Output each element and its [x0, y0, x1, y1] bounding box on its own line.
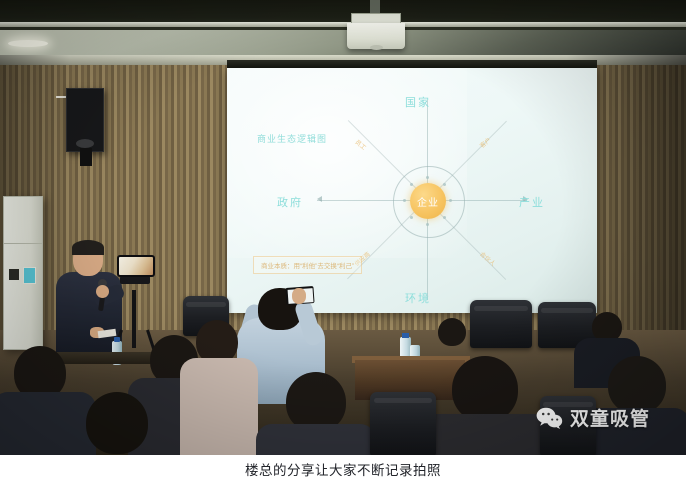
photographer-hand: [292, 288, 306, 304]
slide-footnote: 商业本质：用“利他”去交换“利己”: [253, 256, 362, 274]
slide-node-top: 国家: [405, 94, 431, 110]
air-conditioner-unit: [3, 196, 43, 350]
slide-spoke-southeast: 合伙人: [478, 249, 498, 267]
audience-head: [452, 356, 518, 422]
chair-fg-1: [370, 392, 436, 455]
tripod-pole: [132, 290, 136, 348]
audience-body: [180, 358, 258, 455]
chair-highlight: [541, 308, 592, 313]
caption-text: 楼总的分享让大家不断记录拍照: [245, 459, 441, 479]
arrow-left-icon: [317, 196, 322, 202]
projector-lens: [370, 45, 383, 50]
speaker-cable: [56, 96, 66, 98]
projection-screen: 商业生态逻辑图 企业 国家 环境 政府 产业 员: [227, 68, 597, 313]
ceiling-light: [8, 40, 48, 47]
hub-dot-ne: [443, 183, 446, 186]
hub-dot-s: [426, 223, 429, 226]
audience-head: [286, 372, 346, 432]
presenter-hand: [96, 285, 109, 298]
chair-highlight: [186, 302, 226, 307]
wechat-icon: [536, 407, 563, 429]
audience-body: [420, 414, 550, 455]
watermark: 双童吸管: [536, 404, 650, 431]
audience-head: [438, 318, 466, 346]
audience-body: [256, 424, 376, 455]
audience-head: [86, 392, 148, 454]
slide-node-left: 政府: [277, 194, 303, 210]
water-bottle-left-cap: [114, 337, 120, 342]
screenshot-root: 商业生态逻辑图 企业 国家 环境 政府 产业 员: [0, 0, 686, 482]
ac-seam: [4, 243, 42, 244]
ac-vent: [9, 269, 19, 280]
caption-bar: 楼总的分享让大家不断记录拍照: [0, 455, 686, 482]
slide-node-bottom: 环境: [405, 290, 431, 306]
hub-center-node: 企业: [410, 183, 446, 219]
hub-center-label: 企业: [410, 183, 446, 219]
water-bottle-mid-cap: [402, 333, 409, 338]
speaker-cone: [76, 139, 94, 148]
watermark-brand: 双童吸管: [570, 404, 650, 431]
phone-mount: [120, 276, 150, 284]
chair-highlight: [374, 398, 432, 403]
conference-photo: 商业生态逻辑图 企业 国家 环境 政府 产业 员: [0, 0, 686, 455]
hub-dot-n: [426, 176, 429, 179]
hub-dot-w: [403, 199, 406, 202]
tripod-phone-screen: [119, 257, 153, 275]
hub-dot-se: [443, 216, 446, 219]
speaker-mount: [80, 148, 92, 166]
slide-title: 商业生态逻辑图: [257, 132, 327, 145]
ac-badge: [23, 267, 36, 284]
audience-body: [0, 392, 96, 455]
tripod-phone: [117, 255, 155, 277]
hub-dot-nw: [410, 183, 413, 186]
projector-rail: [0, 22, 686, 27]
presenter-hair: [72, 240, 104, 255]
hub-dot-sw: [410, 216, 413, 219]
wall-speaker: [66, 88, 104, 152]
chair-back-1: [470, 300, 532, 348]
hub-dot-e: [449, 199, 452, 202]
chair-highlight: [474, 306, 529, 311]
slide-node-right: 产业: [519, 194, 545, 210]
